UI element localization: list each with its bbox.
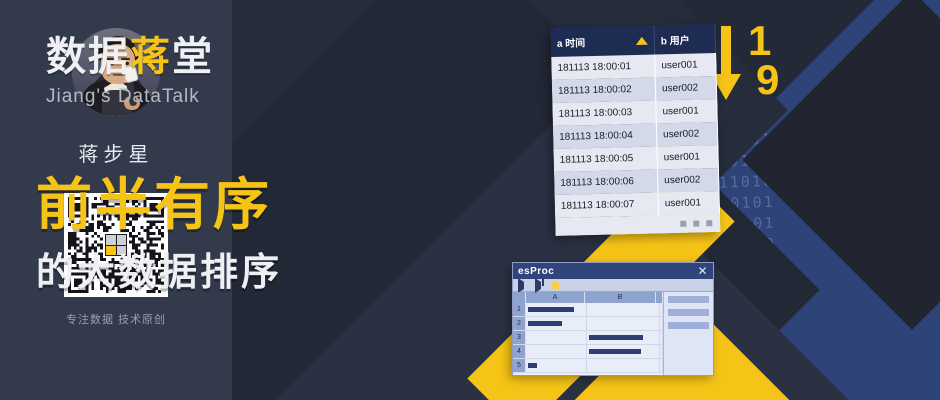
grid-row[interactable]: 3 xyxy=(513,331,663,345)
grid-cell-content-bar xyxy=(528,321,562,326)
grid-cell[interactable] xyxy=(587,317,660,330)
table-cell-user: user002 xyxy=(657,122,719,146)
esproc-grid[interactable]: A B 12345 xyxy=(513,292,664,376)
table-row[interactable]: 181113 18:00:07user001 xyxy=(555,191,721,218)
table-header-row: a 时间 b 用户 xyxy=(550,24,716,57)
grid-row-number: 3 xyxy=(513,331,526,344)
esproc-title-label: esProc xyxy=(518,266,554,277)
headline-block: 前半有序 的大数据排序 xyxy=(36,176,282,296)
grid-cell[interactable] xyxy=(660,359,663,372)
table-cell-time: 181113 18:00:02 xyxy=(552,77,657,103)
table-header-user-label: b 用户 xyxy=(661,32,690,48)
flag-icon[interactable] xyxy=(552,282,559,289)
grid-cell[interactable] xyxy=(526,317,587,330)
grid-cell[interactable] xyxy=(526,345,587,358)
step-icon[interactable] xyxy=(535,278,548,293)
esproc-grid-rows: 12345 xyxy=(513,303,663,373)
grid-cell[interactable] xyxy=(660,317,663,330)
data-table[interactable]: a 时间 b 用户 181113 18:00:01user001181113 1… xyxy=(550,24,720,236)
esproc-side-pane xyxy=(664,292,713,376)
grid-cell[interactable] xyxy=(587,345,660,358)
grid-cell[interactable] xyxy=(660,345,663,358)
dot-icon xyxy=(706,220,712,226)
side-pane-bar xyxy=(668,322,709,329)
sidebar-tagline: 专注数据 技术原创 xyxy=(66,311,166,327)
grid-row[interactable]: 5 xyxy=(513,359,663,373)
esproc-grid-header: A B xyxy=(513,292,663,303)
esproc-toolbar[interactable] xyxy=(513,279,713,292)
table-cell-time: 181113 18:00:04 xyxy=(553,123,658,149)
brand-title-suffix: 堂 xyxy=(172,35,214,79)
issue-digit-top: 1 xyxy=(748,22,779,61)
grid-cell[interactable] xyxy=(660,331,663,344)
headline-line-1: 前半有序 xyxy=(36,176,282,235)
close-icon[interactable]: ✕ xyxy=(697,265,708,277)
dot-icon xyxy=(680,221,686,227)
table-cell-user: user001 xyxy=(659,191,721,215)
esproc-window[interactable]: esProc ✕ A B 12345 xyxy=(512,262,714,376)
esproc-body: A B 12345 xyxy=(513,292,713,376)
grid-cell-content-bar xyxy=(589,349,641,354)
table-cell-time: 181113 18:00:06 xyxy=(554,169,659,195)
run-icon[interactable] xyxy=(518,278,531,293)
issue-marker: 1 9 xyxy=(710,22,830,118)
table-header-time[interactable]: a 时间 xyxy=(550,26,655,58)
grid-row-number: 2 xyxy=(513,317,526,330)
grid-cell-content-bar xyxy=(528,363,537,368)
grid-row-number: 5 xyxy=(513,359,526,372)
side-pane-bar xyxy=(668,309,709,316)
grid-cell[interactable] xyxy=(587,359,660,372)
brand-title-highlight: 蒋 xyxy=(130,35,172,79)
table-cell-time: 181113 18:00:05 xyxy=(553,146,658,172)
side-pane-bar xyxy=(668,296,709,303)
grid-cell[interactable] xyxy=(526,331,587,344)
dot-icon xyxy=(693,220,699,226)
table-cell-user: user001 xyxy=(656,99,718,123)
poster-canvas: 01010101010101001 10101011010101010 0101… xyxy=(0,0,940,400)
issue-number: 1 9 xyxy=(748,22,779,99)
grid-cell[interactable] xyxy=(526,303,587,316)
table-cell-user: user001 xyxy=(655,53,717,77)
grid-cell-content-bar xyxy=(589,335,643,340)
brand-title: 数据蒋堂 xyxy=(46,24,214,82)
grid-cell[interactable] xyxy=(587,303,660,316)
table-cell-user: user001 xyxy=(657,145,719,169)
table-cell-time: 181113 18:00:07 xyxy=(555,192,660,218)
grid-row[interactable]: 2 xyxy=(513,317,663,331)
grid-cell[interactable] xyxy=(526,359,587,372)
brand-title-prefix: 数据 xyxy=(46,35,130,79)
table-cell-user: user002 xyxy=(658,168,720,192)
brand-subtitle: Jiang's DataTalk xyxy=(46,86,214,108)
table-cell-user: user002 xyxy=(656,76,718,100)
table-body: 181113 18:00:01user001181113 18:00:02use… xyxy=(551,53,720,218)
table-header-time-label: a 时间 xyxy=(557,34,586,50)
grid-column-b[interactable]: B xyxy=(585,292,656,303)
grid-corner-cell xyxy=(513,292,526,303)
grid-cell-content-bar xyxy=(528,307,574,312)
sort-ascending-triangle-icon[interactable] xyxy=(636,36,648,44)
brand-block: 数据蒋堂 Jiang's DataTalk xyxy=(46,24,214,108)
grid-row[interactable]: 4 xyxy=(513,345,663,359)
issue-digit-bottom: 9 xyxy=(756,61,779,100)
grid-cell[interactable] xyxy=(587,331,660,344)
grid-column-a[interactable]: A xyxy=(526,292,585,303)
grid-row[interactable]: 1 xyxy=(513,303,663,317)
grid-row-number: 4 xyxy=(513,345,526,358)
person-name: 蒋步星 xyxy=(79,138,154,167)
table-header-user[interactable]: b 用户 xyxy=(654,24,716,54)
grid-column-c[interactable] xyxy=(656,292,663,303)
table-cell-time: 181113 18:00:01 xyxy=(551,54,656,80)
grid-row-number: 1 xyxy=(513,303,526,316)
arrow-down-icon xyxy=(716,26,736,104)
table-cell-time: 181113 18:00:03 xyxy=(552,100,657,126)
grid-cell[interactable] xyxy=(660,303,663,316)
headline-line-2: 的大数据排序 xyxy=(36,241,282,296)
